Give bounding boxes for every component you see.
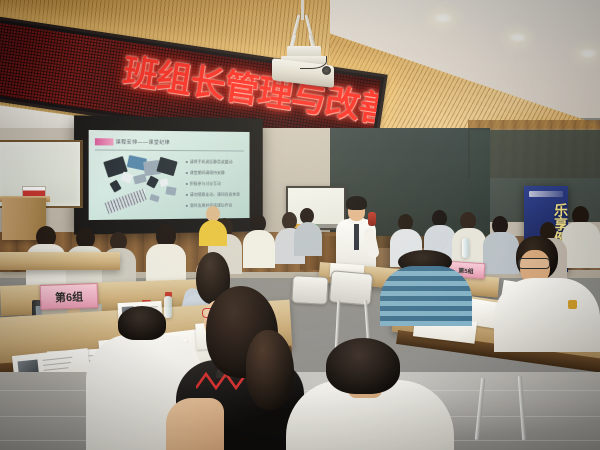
slide-divider xyxy=(95,149,244,151)
slide-bullet: 请勿随意走动，课间自由休息 xyxy=(190,192,240,198)
presenter-necktie xyxy=(354,222,359,250)
projector-lens xyxy=(322,66,331,75)
eyeglasses-icon xyxy=(518,258,550,269)
water-bottle-icon xyxy=(462,238,469,258)
projection-screen: 课程安排——课堂纪律 请将手机调至静音或震动 课堂 xyxy=(74,115,263,234)
shirt-logo xyxy=(568,300,577,309)
attendee-body xyxy=(494,278,600,352)
slide-bullet: 积极参与讨论互动 xyxy=(190,181,221,187)
foreground-woman-ponytail xyxy=(246,330,294,410)
attendee-body xyxy=(483,232,519,274)
foreground-man-hair xyxy=(326,338,400,394)
training-room-photo: 班组长管理与改善技术提升训练 课程安排——课堂纪律 xyxy=(0,0,600,450)
slide-surface: 课程安排——课堂纪律 请将手机调至静音或震动 课堂 xyxy=(89,130,250,220)
slide-accent-bar xyxy=(95,138,114,145)
table-left-far xyxy=(0,252,120,270)
ceiling-light-icon xyxy=(432,12,454,24)
ceiling-light-icon xyxy=(578,48,598,59)
attendee-hair xyxy=(118,306,166,340)
ceiling-light-icon xyxy=(508,32,528,43)
slide-photo-collage xyxy=(103,157,182,212)
slide-bullet: 请将手机调至静音或震动 xyxy=(190,159,233,165)
foreground-woman-arm xyxy=(166,398,224,450)
microphone-icon xyxy=(368,212,376,226)
attendee-body xyxy=(294,222,322,256)
projector-drop-rod xyxy=(301,0,304,20)
presenter-hair xyxy=(346,196,367,210)
slide-title: 课程安排——课堂纪律 xyxy=(116,138,170,146)
attendee-body xyxy=(562,222,600,268)
table-tent-card: 第6组 xyxy=(40,283,99,310)
chair-back xyxy=(291,275,328,305)
slide-bullet: 课堂期间请保持安静 xyxy=(190,170,225,176)
attendee-body-striped xyxy=(380,266,472,326)
attendee-body-yellow xyxy=(199,220,227,246)
slide-keyboard-image xyxy=(104,189,146,215)
water-bottle-icon xyxy=(164,296,172,318)
rollup-banner-logo xyxy=(529,191,563,197)
attendee-body xyxy=(243,230,275,268)
